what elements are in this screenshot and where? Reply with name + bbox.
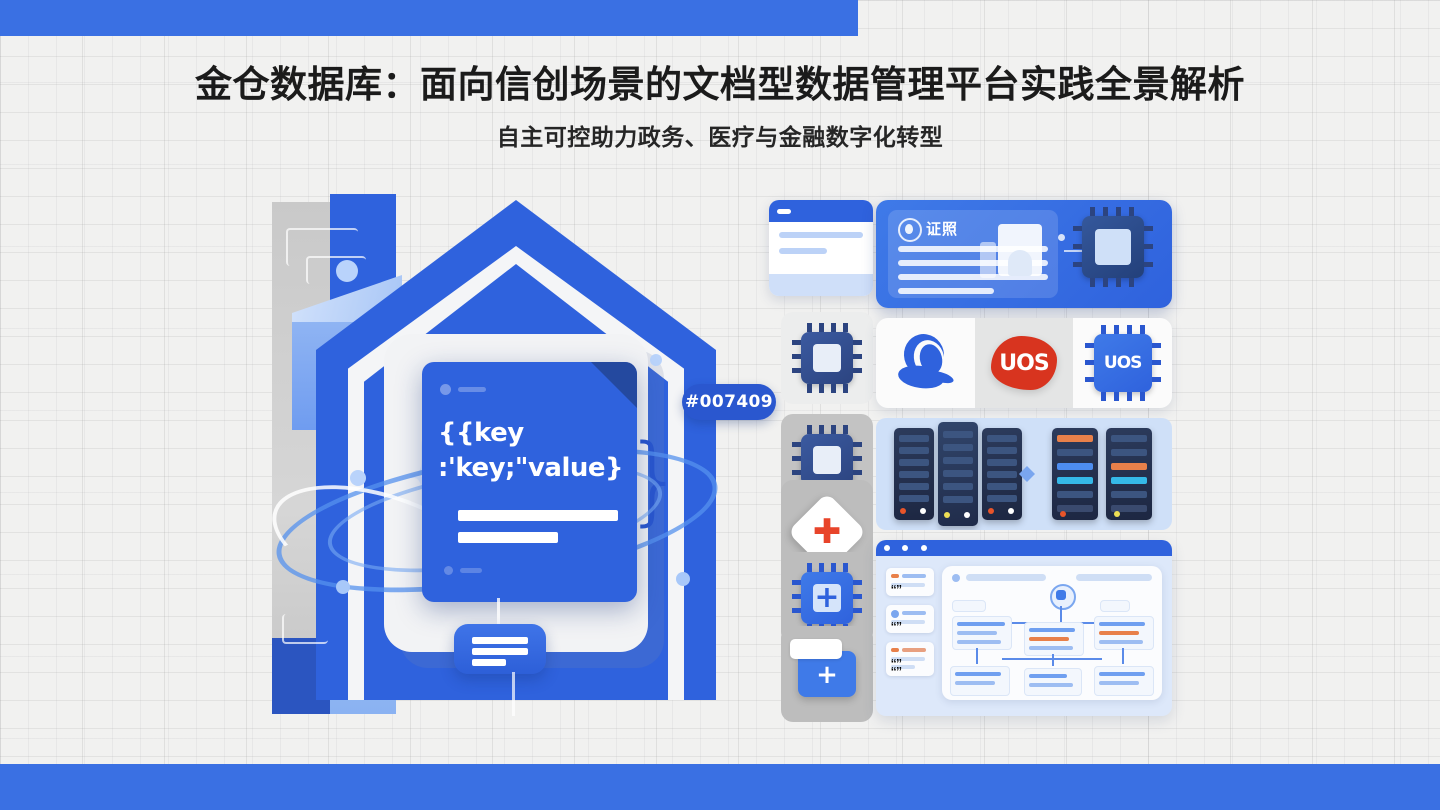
rack-unit xyxy=(987,447,1017,454)
uos-chip-text: UOS xyxy=(1104,353,1142,373)
browser-footer-block xyxy=(769,274,873,296)
rack-led xyxy=(1008,508,1014,514)
chip-pin xyxy=(1073,226,1082,231)
chip-pin xyxy=(1144,244,1153,249)
chip-pin xyxy=(1103,278,1108,287)
flow-box-line xyxy=(1029,646,1073,650)
sidebar-accent xyxy=(891,574,899,578)
rack-unit xyxy=(943,470,973,477)
sidebar-sub-2 xyxy=(891,665,915,669)
security-vault-shield: { } {{key :'key;"value} xyxy=(272,194,762,722)
sidebar-card[interactable] xyxy=(886,642,934,676)
rack-unit xyxy=(899,471,929,478)
chip-pin xyxy=(831,563,836,572)
rack-unit xyxy=(1111,491,1147,498)
connector-stem-bottom xyxy=(512,672,515,716)
chip-pin xyxy=(807,563,812,572)
page-subtitle: 自主可控助力政务、医疗与金融数字化转型 xyxy=(0,118,1440,152)
uos-red-blob: UOS xyxy=(991,336,1057,390)
list-line-2 xyxy=(472,648,528,655)
sidebar-sub xyxy=(891,583,925,587)
flow-box-b1[interactable] xyxy=(950,666,1010,696)
chip-pin xyxy=(1152,343,1161,348)
right-panel-stack: 证照 xyxy=(876,194,1172,722)
rack-unit xyxy=(1057,477,1093,484)
kit-body: + xyxy=(798,651,856,697)
chip-body-navy xyxy=(801,434,853,486)
rack-unit xyxy=(943,431,973,438)
flow-box-line xyxy=(1099,622,1145,626)
server-rack-cluster xyxy=(876,418,1172,530)
cross-glyph: ✚ xyxy=(813,515,842,549)
flow-box-right[interactable] xyxy=(1094,616,1154,650)
chip-pin xyxy=(853,442,862,447)
chip-pin xyxy=(853,594,862,599)
color-hex-badge[interactable]: #007409 xyxy=(682,384,776,420)
flow-diagram-canvas xyxy=(942,566,1162,700)
chip-pin xyxy=(1116,278,1121,287)
chip-pin xyxy=(1144,226,1153,231)
document-bullet-line xyxy=(460,568,482,573)
net-node-4 xyxy=(336,580,350,594)
chip-pin xyxy=(1129,207,1134,216)
rack-unit xyxy=(987,471,1017,478)
rack-unit xyxy=(899,483,929,490)
uos-logo[interactable]: UOS xyxy=(975,318,1074,408)
sidebar-card[interactable] xyxy=(886,568,934,596)
chip-pin xyxy=(1085,360,1094,365)
flow-edge-right-down xyxy=(1122,648,1124,664)
flow-box-line xyxy=(1029,637,1069,641)
chip-pin xyxy=(819,425,824,434)
rack-led xyxy=(900,508,906,514)
chip-core xyxy=(813,446,841,474)
flow-box-line xyxy=(1029,683,1073,687)
chip-pin xyxy=(792,608,801,613)
rack-unit xyxy=(943,496,973,503)
chip-pin xyxy=(792,354,801,359)
chip-pin xyxy=(853,354,862,359)
sidebar-accent xyxy=(891,648,899,652)
chip-pin xyxy=(819,563,824,572)
sidebar-sub xyxy=(891,620,925,624)
chip-pin xyxy=(1152,360,1161,365)
chip-pin xyxy=(1140,325,1145,334)
chip-pin xyxy=(819,384,824,393)
chip-pin xyxy=(1085,343,1094,348)
flow-box-b2[interactable] xyxy=(1024,668,1082,696)
chip-pin xyxy=(831,384,836,393)
flow-edge-cross xyxy=(1002,658,1102,660)
electronic-license-card[interactable]: 证照 xyxy=(876,200,1172,308)
code-line-2: :'key;"value} xyxy=(438,451,634,486)
chip-body-dark xyxy=(801,332,853,384)
architecture-flow-window[interactable] xyxy=(876,540,1172,716)
sidebar-accent xyxy=(891,610,899,618)
license-label: 证照 xyxy=(926,218,958,239)
top-accent-bar xyxy=(0,0,858,36)
rack-unit xyxy=(943,444,973,451)
document-bullet xyxy=(444,566,453,575)
chip-pin xyxy=(1114,325,1119,334)
rack-unit xyxy=(987,459,1017,466)
server-rack[interactable] xyxy=(1106,428,1152,520)
server-rack[interactable] xyxy=(1052,428,1098,520)
chip-pin xyxy=(819,323,824,332)
server-rack[interactable] xyxy=(894,428,934,520)
chip-pin xyxy=(792,368,801,373)
flow-root-node[interactable] xyxy=(1050,584,1076,610)
chip-pin xyxy=(1073,244,1082,249)
chip-pin xyxy=(843,323,848,332)
chip-pin xyxy=(843,563,848,572)
document-list-button[interactable] xyxy=(454,624,546,674)
flow-box-line xyxy=(1099,681,1139,685)
deco-line-c xyxy=(282,614,328,644)
flow-box-line xyxy=(957,631,997,635)
flow-box-b3[interactable] xyxy=(1094,666,1154,696)
server-rack[interactable] xyxy=(982,428,1022,520)
chip-pin xyxy=(831,323,836,332)
chip-pin xyxy=(843,384,848,393)
chip-pin xyxy=(1073,262,1082,267)
flow-sidebar xyxy=(886,568,934,685)
rack-unit xyxy=(899,447,929,454)
rack-led xyxy=(1114,511,1120,517)
chip-pin xyxy=(807,425,812,434)
browser-window-card[interactable] xyxy=(769,200,873,296)
flow-tag-right xyxy=(1100,600,1130,612)
document-dot-line xyxy=(458,387,486,392)
chip-pin xyxy=(807,323,812,332)
flow-box-line xyxy=(957,622,1005,626)
flow-header-dot xyxy=(952,574,960,582)
rack-unit xyxy=(1111,449,1147,456)
browser-title-bar xyxy=(769,200,873,222)
rack-led xyxy=(1060,511,1066,517)
flow-box-line xyxy=(955,672,1001,676)
flow-box-center[interactable] xyxy=(1024,622,1084,656)
flow-box-line xyxy=(955,681,995,685)
chip-pin xyxy=(1090,278,1095,287)
rack-unit xyxy=(1111,435,1147,442)
flow-box-line xyxy=(957,640,1001,644)
chip-pin xyxy=(1101,325,1106,334)
chip-pin xyxy=(843,425,848,434)
rack-led xyxy=(920,508,926,514)
rack-unit xyxy=(1057,449,1093,456)
sidebar-sub xyxy=(891,657,925,661)
flow-title-bar xyxy=(876,540,1172,556)
browser-line-2 xyxy=(779,248,827,254)
chip-body-plus: + xyxy=(801,572,853,624)
flow-box-line xyxy=(1099,672,1145,676)
phoenix-glyph xyxy=(894,332,956,394)
chip-pin xyxy=(1129,278,1134,287)
chip-pin xyxy=(792,456,801,461)
document-text-line-1 xyxy=(458,510,618,521)
flow-header-line-2 xyxy=(1076,574,1152,581)
window-dot-2 xyxy=(902,545,908,551)
document-text-line-2 xyxy=(458,532,558,543)
chip-pin xyxy=(831,425,836,434)
document-dot xyxy=(440,384,451,395)
rack-unit xyxy=(1111,477,1147,484)
document-fold-corner xyxy=(591,362,637,408)
license-photo-stand xyxy=(980,242,996,278)
rack-unit xyxy=(1057,463,1093,470)
chip-pin xyxy=(1116,207,1121,216)
flow-tag-left xyxy=(952,600,986,612)
window-dot-3 xyxy=(921,545,927,551)
rack-unit xyxy=(987,495,1017,502)
uos-chip-logo[interactable]: UOS xyxy=(1073,318,1172,408)
chip-pin xyxy=(1127,325,1132,334)
chip-pin xyxy=(1114,392,1119,401)
rack-unit xyxy=(943,483,973,490)
flow-box-line xyxy=(1099,640,1143,644)
page-title: 金仓数据库：面向信创场景的文档型数据管理平台实践全景解析 xyxy=(0,62,1440,107)
server-rack[interactable] xyxy=(938,422,978,526)
flow-edge-center-down xyxy=(1052,654,1054,666)
rack-unit xyxy=(1057,435,1093,442)
license-line-4 xyxy=(898,288,994,294)
chip-body-cert xyxy=(1082,216,1144,278)
chip-pin xyxy=(1103,207,1108,216)
chip-pin xyxy=(1140,392,1145,401)
rack-unit xyxy=(1057,491,1093,498)
kylin-os-logo[interactable] xyxy=(876,318,975,408)
list-line-3 xyxy=(472,659,506,666)
chip-pin xyxy=(853,368,862,373)
sidebar-line xyxy=(902,611,926,615)
chip-pin xyxy=(1085,377,1094,382)
hero-illustration: { } {{key :'key;"value} xyxy=(272,194,1172,722)
sidebar-line xyxy=(902,574,926,578)
cpu-chip-icon-dark[interactable] xyxy=(781,312,873,404)
rack-unit xyxy=(899,495,929,502)
sidebar-line xyxy=(902,648,926,652)
window-dot-1 xyxy=(884,545,890,551)
list-line-1 xyxy=(472,637,528,644)
chip-body-uos: UOS xyxy=(1094,334,1152,392)
rack-led xyxy=(988,508,994,514)
license-connector-dot xyxy=(1058,234,1065,241)
rack-led xyxy=(964,512,970,518)
chip-pin xyxy=(1101,392,1106,401)
chip-pin xyxy=(853,340,862,345)
browser-line-1 xyxy=(779,232,863,238)
chip-pin xyxy=(792,470,801,475)
flow-box-line xyxy=(1099,631,1139,635)
rack-unit xyxy=(943,457,973,464)
document-code-block: {{key :'key;"value} xyxy=(438,416,634,486)
flow-edge-left-down xyxy=(976,648,978,664)
flow-box-left[interactable] xyxy=(952,616,1012,650)
uos-logo-text: UOS xyxy=(999,351,1048,376)
bottom-accent-bar xyxy=(0,764,1440,810)
rack-unit xyxy=(1111,463,1147,470)
rack-led xyxy=(944,512,950,518)
net-node-3 xyxy=(676,572,690,586)
browser-dot-1 xyxy=(777,209,791,214)
license-secure-chip xyxy=(1082,216,1144,278)
license-portrait xyxy=(998,224,1042,276)
chip-pin xyxy=(1127,392,1132,401)
json-document-card[interactable]: {{key :'key;"value} xyxy=(422,362,637,602)
chip-pin xyxy=(792,340,801,345)
chip-pin xyxy=(1090,207,1095,216)
chip-pin xyxy=(1144,262,1153,267)
chip-pin xyxy=(853,470,862,475)
rack-unit xyxy=(987,483,1017,490)
chip-pin xyxy=(853,456,862,461)
chip-pin xyxy=(792,594,801,599)
orbit-node-b xyxy=(336,260,358,282)
rack-unit xyxy=(987,435,1017,442)
chip-pin xyxy=(853,580,862,585)
flow-box-line xyxy=(1029,674,1067,678)
chip-pin xyxy=(853,608,862,613)
code-line-1: {{key xyxy=(438,416,634,451)
chip-pin xyxy=(807,384,812,393)
plus-glyph: + xyxy=(814,583,839,613)
kit-plus-glyph: + xyxy=(816,662,838,688)
chip-pin xyxy=(1152,377,1161,382)
rack-unit xyxy=(899,435,929,442)
domestic-os-logos: UOS UOS xyxy=(876,318,1172,408)
rack-unit xyxy=(899,459,929,466)
orbit-node-c xyxy=(650,354,662,366)
chip-core xyxy=(1095,229,1131,265)
flow-box-line xyxy=(1029,628,1075,632)
sidebar-card[interactable] xyxy=(886,605,934,633)
icon-column: ✚ + xyxy=(775,194,879,722)
orbit-node-a xyxy=(350,470,366,486)
flow-header-line xyxy=(966,574,1046,581)
license-seal-icon xyxy=(898,218,922,242)
heading-block: 金仓数据库：面向信创场景的文档型数据管理平台实践全景解析 自主可控助力政务、医疗… xyxy=(0,62,1440,152)
medical-kit-icon[interactable]: + xyxy=(781,626,873,722)
chip-pin xyxy=(792,580,801,585)
chip-core xyxy=(813,344,841,372)
chip-pin xyxy=(792,442,801,447)
